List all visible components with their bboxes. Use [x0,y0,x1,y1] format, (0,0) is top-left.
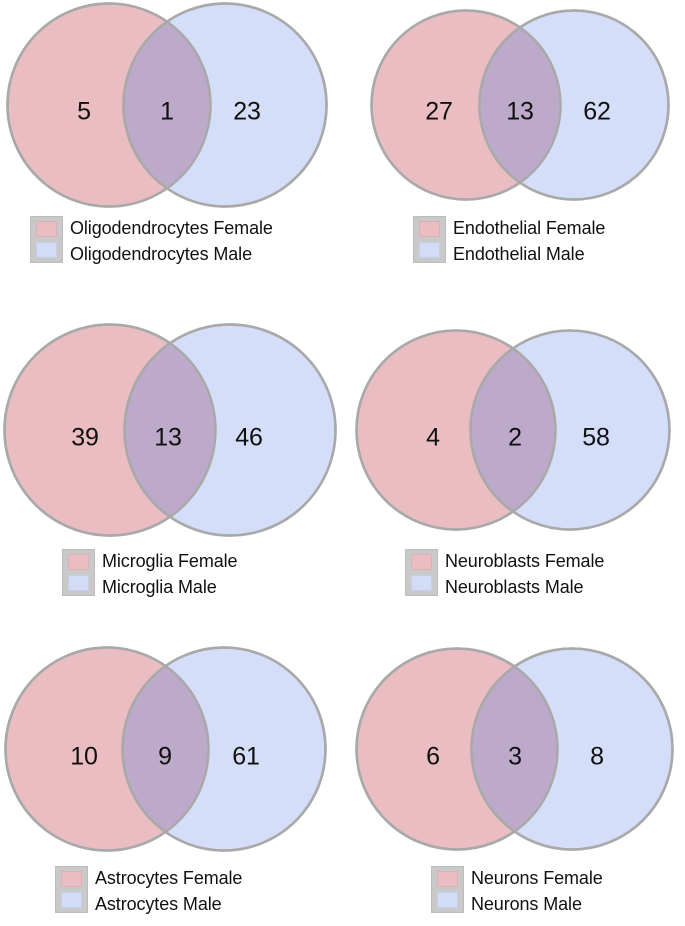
legend-label-male: Neuroblasts Male [445,575,604,599]
venn-count-intersection: 3 [508,745,522,770]
legend-swatch-box [405,549,438,596]
legend-swatch-female-icon [61,871,82,887]
legend-swatch-male-icon [411,575,432,591]
venn-legend: Microglia Female Microglia Male [62,549,237,599]
venn-count-intersection: 13 [154,426,181,451]
legend-label-group: Oligodendrocytes Female Oligodendrocytes… [70,216,273,266]
venn-count-right-only: 46 [235,426,262,451]
venn-legend: Oligodendrocytes Female Oligodendrocytes… [30,216,273,266]
legend-swatch-male-icon [36,242,57,258]
legend-swatch-male-icon [68,575,89,591]
venn-grid: 5 1 23 Oligodendrocytes Female Oligodend… [0,0,685,926]
venn-count-right-only: 58 [582,426,609,451]
legend-swatch-female-icon [411,554,432,570]
venn-count-right-only: 8 [590,745,604,770]
legend-label-male: Endothelial Male [453,242,605,266]
venn-count-intersection: 1 [160,100,174,125]
venn-legend: Astrocytes Female Astrocytes Male [55,866,242,916]
legend-swatch-female-icon [419,221,440,237]
venn-plot: 4 2 58 [343,320,685,542]
legend-swatch-male-icon [419,242,440,258]
venn-panel-astrocytes: 10 9 61 Astrocytes Female Astrocytes Mal… [0,630,343,926]
venn-plot: 5 1 23 [0,0,343,212]
legend-swatch-male-icon [437,892,458,908]
legend-label-female: Neuroblasts Female [445,549,604,573]
legend-label-group: Endothelial Female Endothelial Male [453,216,605,266]
venn-count-intersection: 2 [508,426,522,451]
legend-label-male: Neurons Male [471,892,603,916]
venn-figure: 5 1 23 Oligodendrocytes Female Oligodend… [0,0,685,926]
venn-panel-neuroblasts: 4 2 58 Neuroblasts Female Neuroblasts Ma… [343,300,685,630]
legend-label-male: Microglia Male [102,575,237,599]
venn-panel-neurons: 6 3 8 Neurons Female Neurons Male [343,630,685,926]
legend-label-female: Astrocytes Female [95,866,242,890]
legend-swatch-female-icon [437,871,458,887]
venn-count-left-only: 6 [426,745,440,770]
legend-swatch-box [431,866,464,913]
legend-swatch-box [55,866,88,913]
venn-count-left-only: 4 [426,426,440,451]
legend-label-female: Endothelial Female [453,216,605,240]
legend-swatch-male-icon [61,892,82,908]
legend-label-group: Neurons Female Neurons Male [471,866,603,916]
legend-label-female: Neurons Female [471,866,603,890]
venn-plot: 27 13 62 [343,0,685,212]
venn-count-right-only: 23 [233,100,260,125]
venn-count-left-only: 10 [70,745,97,770]
legend-label-male: Oligodendrocytes Male [70,242,273,266]
venn-legend: Neurons Female Neurons Male [431,866,603,916]
legend-label-group: Microglia Female Microglia Male [102,549,237,599]
legend-swatch-box [62,549,95,596]
venn-legend: Neuroblasts Female Neuroblasts Male [405,549,604,599]
venn-legend: Endothelial Female Endothelial Male [413,216,605,266]
venn-count-right-only: 61 [232,745,259,770]
venn-count-right-only: 62 [583,100,610,125]
venn-plot: 10 9 61 [0,644,343,856]
venn-plot: 6 3 8 [343,644,685,856]
venn-count-left-only: 39 [71,426,98,451]
legend-swatch-female-icon [36,221,57,237]
venn-panel-endothelial: 27 13 62 Endothelial Female Endothelial … [343,0,685,300]
venn-panel-oligodendrocytes: 5 1 23 Oligodendrocytes Female Oligodend… [0,0,343,300]
venn-count-left-only: 27 [425,100,452,125]
legend-swatch-female-icon [68,554,89,570]
venn-count-left-only: 5 [77,100,91,125]
legend-swatch-box [30,216,63,263]
venn-count-intersection: 13 [506,100,533,125]
legend-label-group: Neuroblasts Female Neuroblasts Male [445,549,604,599]
legend-label-group: Astrocytes Female Astrocytes Male [95,866,242,916]
legend-swatch-box [413,216,446,263]
venn-count-intersection: 9 [158,745,172,770]
venn-plot: 39 13 46 [0,320,343,542]
legend-label-male: Astrocytes Male [95,892,242,916]
legend-label-female: Microglia Female [102,549,237,573]
venn-panel-microglia: 39 13 46 Microglia Female Microglia Male [0,300,343,630]
legend-label-female: Oligodendrocytes Female [70,216,273,240]
